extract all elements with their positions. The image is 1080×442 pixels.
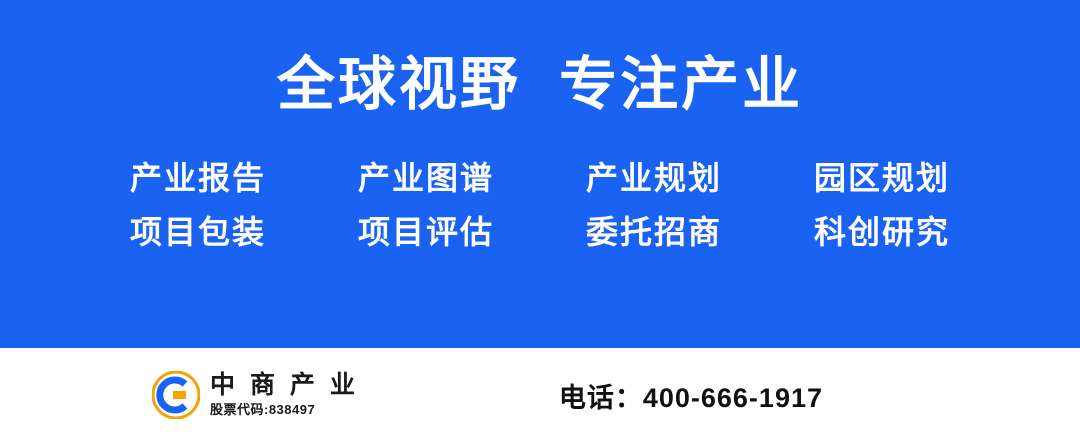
brand-block: 中 商 产 业 股票代码:838497 xyxy=(152,371,359,419)
service-item[interactable]: 科创研究 xyxy=(814,216,950,248)
service-item[interactable]: 委托招商 xyxy=(586,216,722,248)
service-list: 产业报告 产业图谱 产业规划 园区规划 项目包装 项目评估 委托招商 科创研究 xyxy=(130,162,950,248)
service-row: 项目包装 项目评估 委托招商 科创研究 xyxy=(130,216,950,248)
brand-text: 中 商 产 业 股票代码:838497 xyxy=(210,372,359,418)
service-item[interactable]: 园区规划 xyxy=(814,162,950,194)
circle-c-logo-icon xyxy=(152,371,200,419)
contact-phone: 电话：400-666-1917 xyxy=(559,376,823,415)
banner-footer: 中 商 产 业 股票代码:838497 电话：400-666-1917 xyxy=(0,348,1080,442)
brand-name: 中 商 产 业 xyxy=(210,372,359,400)
service-item[interactable]: 产业规划 xyxy=(586,162,722,194)
stock-code: 股票代码:838497 xyxy=(210,402,359,418)
service-item[interactable]: 项目包装 xyxy=(130,216,266,248)
banner-headline: 全球视野 专注产业 xyxy=(277,56,803,114)
promo-banner: 全球视野 专注产业 产业报告 产业图谱 产业规划 园区规划 项目包装 项目评估 … xyxy=(0,0,1080,442)
service-item[interactable]: 项目评估 xyxy=(358,216,494,248)
service-row: 产业报告 产业图谱 产业规划 园区规划 xyxy=(130,162,950,194)
service-item[interactable]: 产业图谱 xyxy=(358,162,494,194)
service-item[interactable]: 产业报告 xyxy=(130,162,266,194)
banner-blue-area: 全球视野 专注产业 产业报告 产业图谱 产业规划 园区规划 项目包装 项目评估 … xyxy=(0,0,1080,348)
